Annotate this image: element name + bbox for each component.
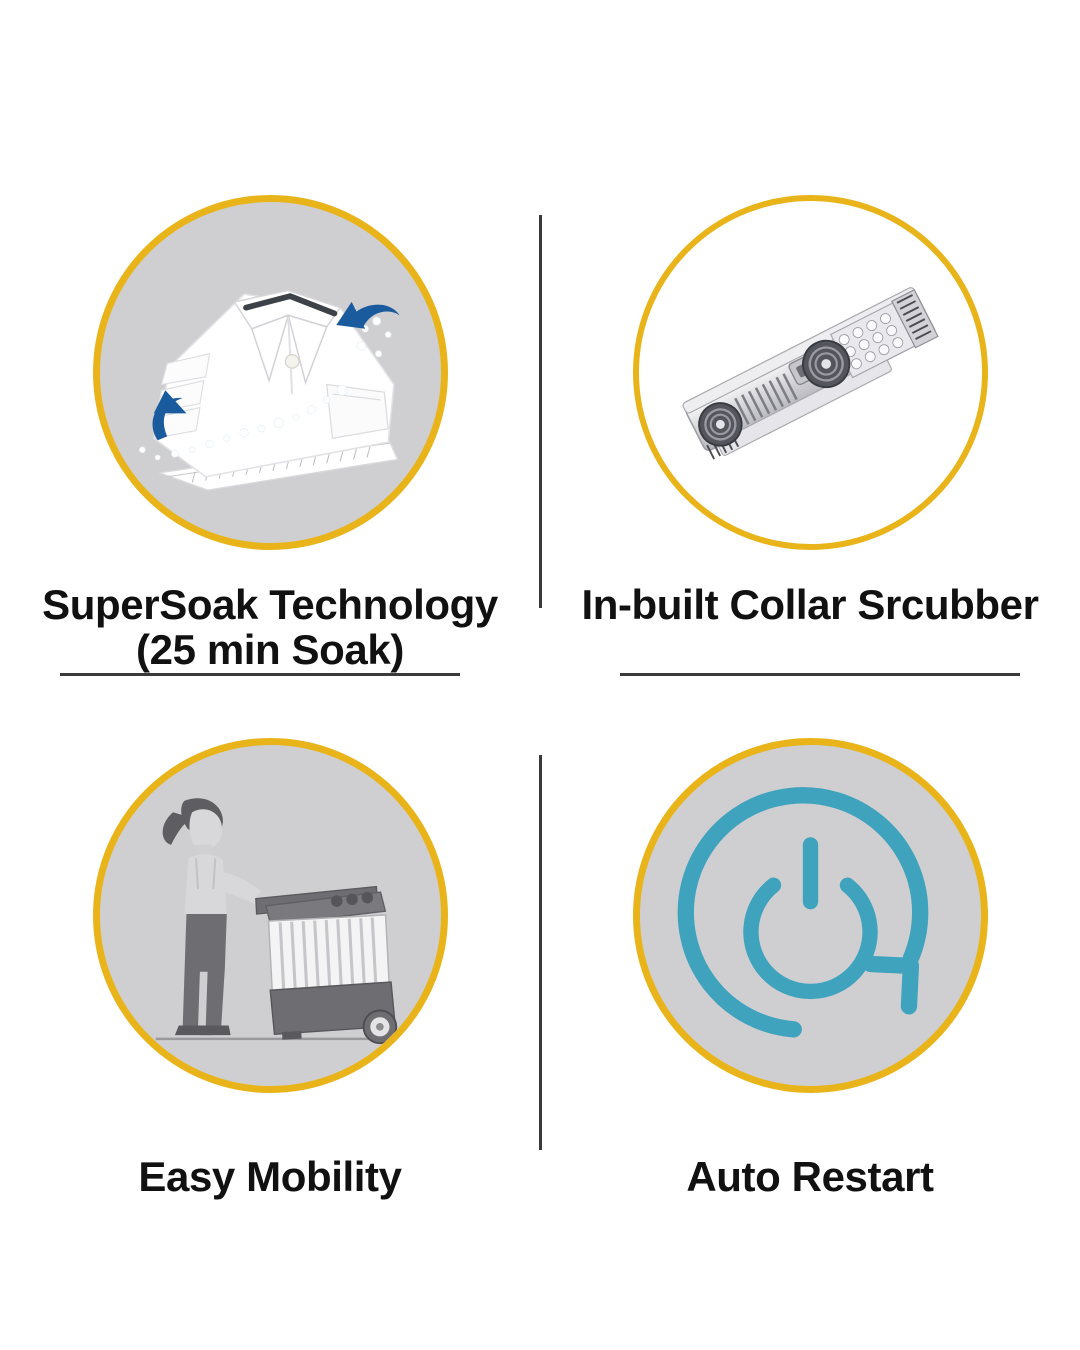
divider-horizontal-right <box>620 673 1020 676</box>
feature-caption-easy-mobility: Easy Mobility <box>0 1155 540 1200</box>
feature-card-auto-restart: Auto Restart <box>540 700 1080 1350</box>
divider-horizontal-left <box>60 673 460 676</box>
feature-caption-collar-scrubber: In-built Collar Srcubber <box>540 583 1080 628</box>
folded-shirt-soak-icon <box>93 195 448 550</box>
feature-caption-supersoak: SuperSoak Technology (25 min Soak) <box>0 583 540 672</box>
feature-card-collar-scrubber: In-built Collar Srcubber <box>540 0 1080 700</box>
feature-caption-auto-restart: Auto Restart <box>540 1155 1080 1200</box>
feature-card-supersoak: SuperSoak Technology (25 min Soak) <box>0 0 540 700</box>
collar-scrubber-board-icon <box>633 195 988 550</box>
woman-pushing-washer-icon <box>93 738 448 1093</box>
divider-vertical-top <box>539 215 542 608</box>
power-restart-icon <box>633 738 988 1093</box>
divider-vertical-bottom <box>539 755 542 1150</box>
feature-card-easy-mobility: Easy Mobility <box>0 700 540 1350</box>
